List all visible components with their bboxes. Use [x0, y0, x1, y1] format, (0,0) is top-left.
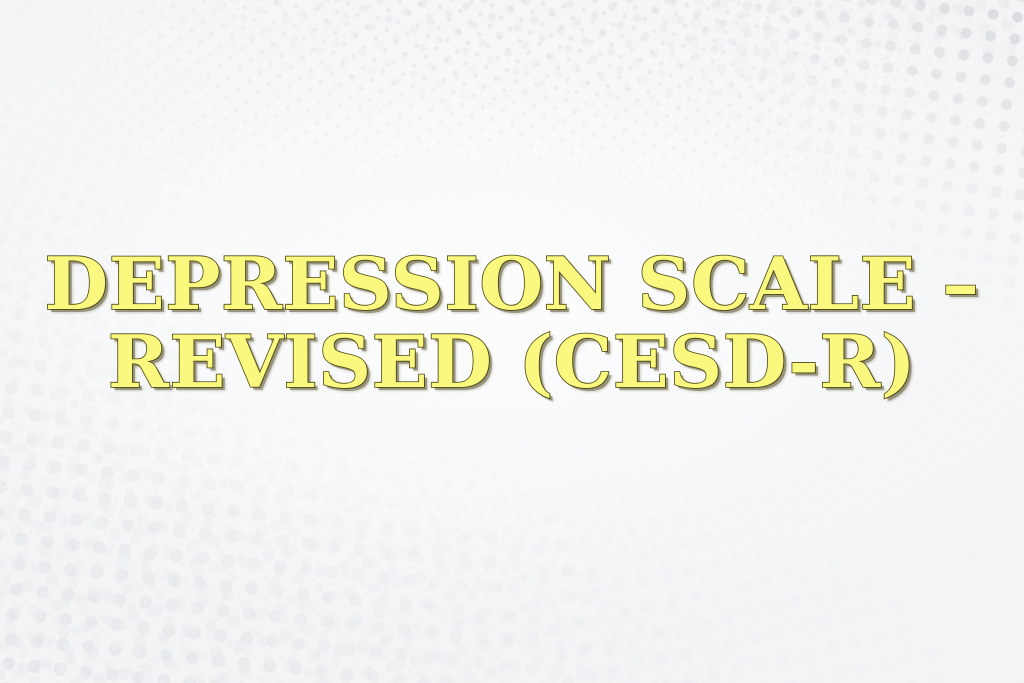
slide-canvas: DEPRESSION SCALE – REVISED (CESD-R) [0, 0, 1024, 683]
page-title-line-1: DEPRESSION SCALE – [0, 244, 1024, 324]
page-title: DEPRESSION SCALE – REVISED (CESD-R) [0, 244, 1024, 402]
page-title-line-2: REVISED (CESD-R) [0, 322, 1024, 402]
